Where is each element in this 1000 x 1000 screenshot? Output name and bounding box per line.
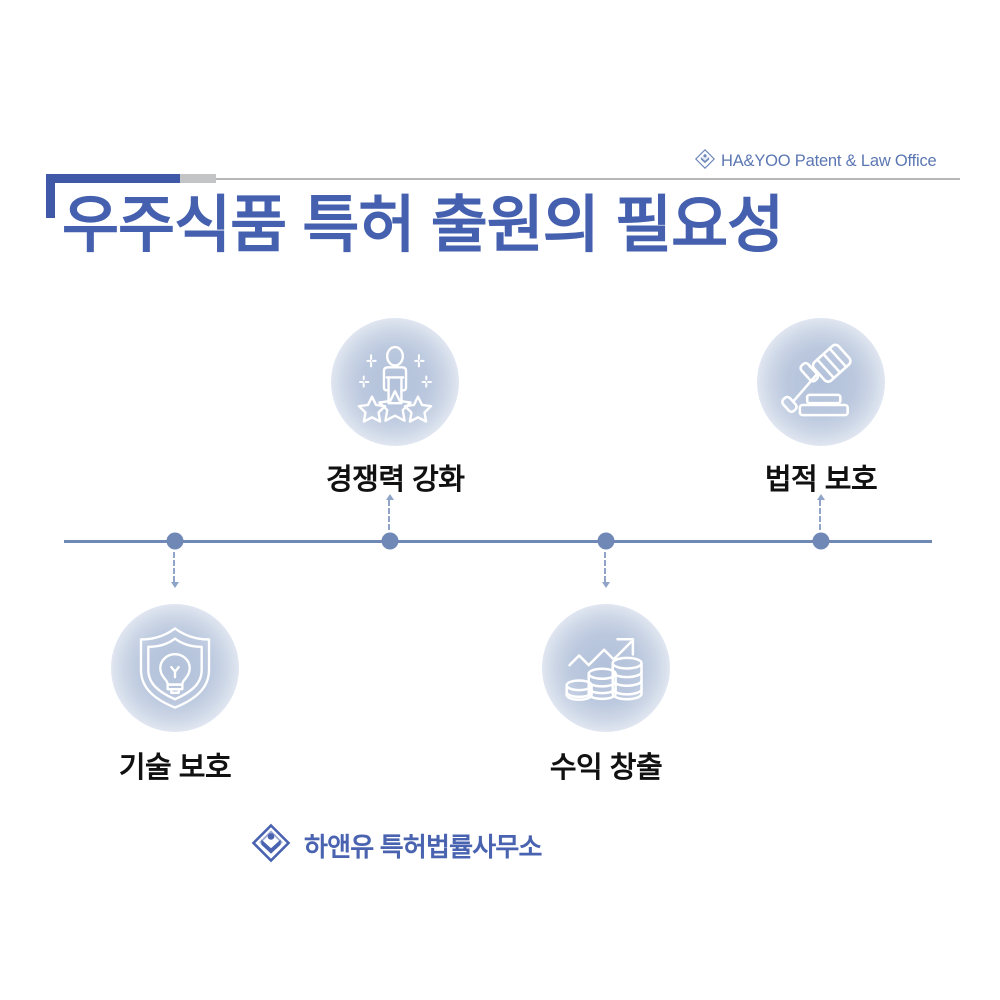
icon-bubble-tech-protection: [111, 604, 239, 732]
timeline-dot-legal-protection[interactable]: [813, 533, 830, 550]
footer-brand: 하앤유 특허법률사무소: [250, 822, 542, 869]
header-rule-blue-segment: [46, 174, 180, 183]
icon-bubble-revenue-generation: [542, 604, 670, 732]
hayoo-diamond-logo-icon: [694, 148, 716, 175]
connector-tech-protection: [173, 552, 177, 582]
timeline-dot-revenue-generation[interactable]: [598, 533, 615, 550]
icon-bubble-competitiveness: [331, 318, 459, 446]
timeline-node-revenue-generation[interactable]: 수익 창출: [542, 604, 670, 786]
connector-revenue-generation: [604, 552, 608, 582]
header-brand-text: HA&YOO Patent & Law Office: [721, 152, 937, 171]
header-rule-thin-line: [216, 178, 960, 180]
node-label-competitiveness: 경쟁력 강화: [326, 456, 464, 498]
node-label-legal-protection: 법적 보호: [765, 456, 877, 498]
timeline-node-tech-protection[interactable]: 기술 보호: [111, 604, 239, 786]
connector-arrow-revenue-generation: [602, 582, 610, 588]
header-brand: HA&YOO Patent & Law Office: [694, 148, 937, 175]
connector-legal-protection: [819, 500, 823, 530]
connector-arrow-tech-protection: [171, 582, 179, 588]
timeline-dot-tech-protection[interactable]: [167, 533, 184, 550]
header-rule-corner-tick: [46, 174, 55, 218]
timeline-axis: [64, 540, 932, 543]
hayoo-diamond-logo-icon: [250, 822, 292, 869]
footer-brand-text: 하앤유 특허법률사무소: [304, 827, 542, 864]
node-label-tech-protection: 기술 보호: [119, 744, 231, 786]
page-title: 우주식품 특허 출원의 필요성: [62, 190, 783, 261]
slide-canvas: HA&YOO Patent & Law Office 우주식품 특허 출원의 필…: [0, 0, 1000, 1000]
timeline-dot-competitiveness[interactable]: [382, 533, 399, 550]
gavel-icon: [775, 336, 867, 428]
coins-growth-arrow-icon: [558, 620, 654, 716]
shield-lightbulb-icon: [129, 622, 221, 714]
timeline-node-legal-protection[interactable]: 법적 보호: [757, 318, 885, 498]
node-label-revenue-generation: 수익 창출: [550, 744, 662, 786]
person-stars-icon: [349, 336, 441, 428]
icon-bubble-legal-protection: [757, 318, 885, 446]
timeline-node-competitiveness[interactable]: 경쟁력 강화: [326, 318, 464, 498]
connector-competitiveness: [388, 500, 392, 530]
header-rule-gray-segment: [180, 174, 216, 183]
